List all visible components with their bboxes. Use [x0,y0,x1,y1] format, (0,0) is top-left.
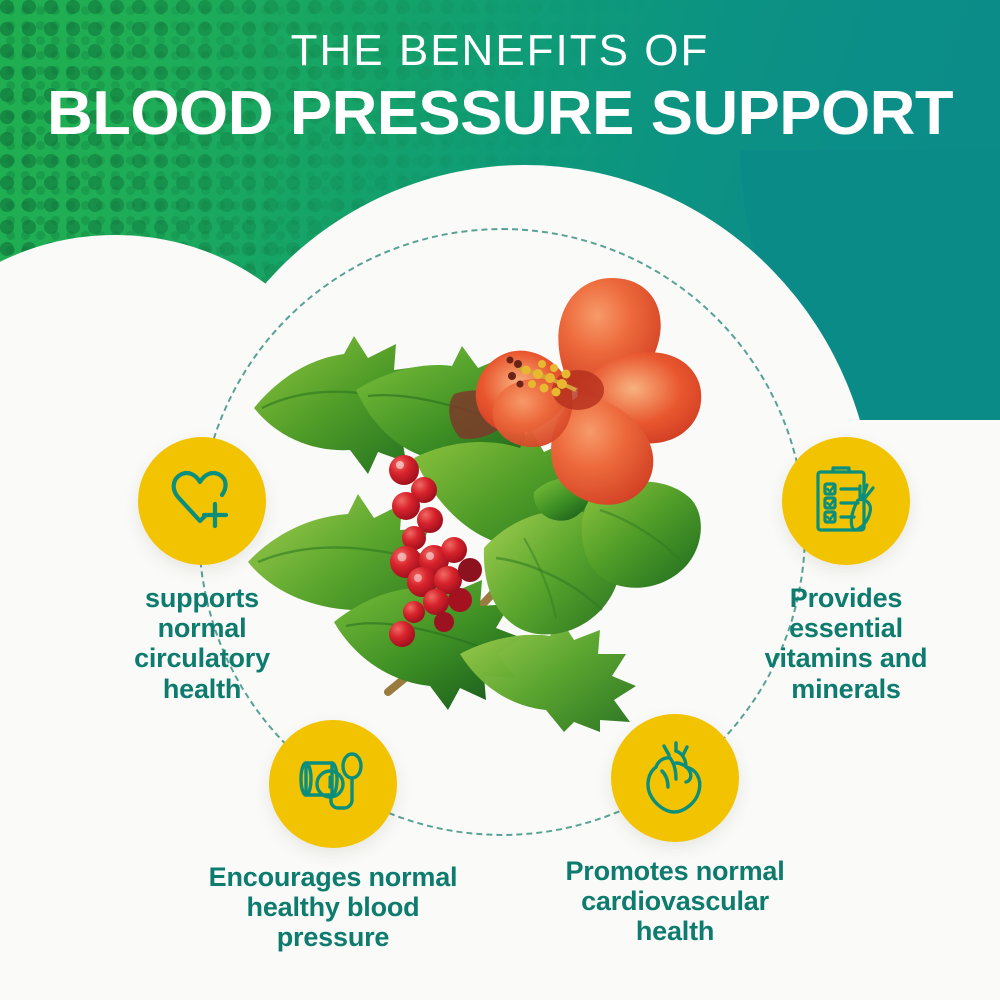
benefit-label: supports normal circulatory health [104,583,300,704]
page-header: THE BENEFITS OF BLOOD PRESSURE SUPPORT [0,28,1000,145]
clipboard-checklist-carrot-icon [810,464,882,538]
heart-plus-icon [165,466,239,536]
benefit-badge-circle[interactable] [138,437,266,565]
benefit-node-promotes-normal-cardiovascular-health[interactable]: Promotes normal cardiovascular health [520,714,830,947]
benefit-badge-circle[interactable] [782,437,910,565]
anatomical-heart-icon [640,741,710,815]
benefit-badge-circle[interactable] [269,720,397,848]
header-subtitle: THE BENEFITS OF [0,28,1000,74]
blood-pressure-monitor-icon [296,747,370,821]
benefit-node-supports-normal-circulatory-health[interactable]: supports normal circulatory health [104,437,300,704]
benefits-infographic: THE BENEFITS OF BLOOD PRESSURE SUPPORT [0,0,1000,1000]
benefit-label: Encourages normal healthy blood pressure [168,862,498,953]
benefit-badge-circle[interactable] [611,714,739,842]
benefit-label: Provides essential vitamins and minerals [740,583,952,704]
benefit-node-provides-essential-vitamins-and-minerals[interactable]: Provides essential vitamins and minerals [740,437,952,704]
page-title: BLOOD PRESSURE SUPPORT [0,82,1000,145]
benefit-label: Promotes normal cardiovascular health [520,856,830,947]
hibiscus-plant-illustration [238,262,708,732]
benefit-node-encourages-normal-healthy-blood-pressure[interactable]: Encourages normal healthy blood pressure [168,720,498,953]
